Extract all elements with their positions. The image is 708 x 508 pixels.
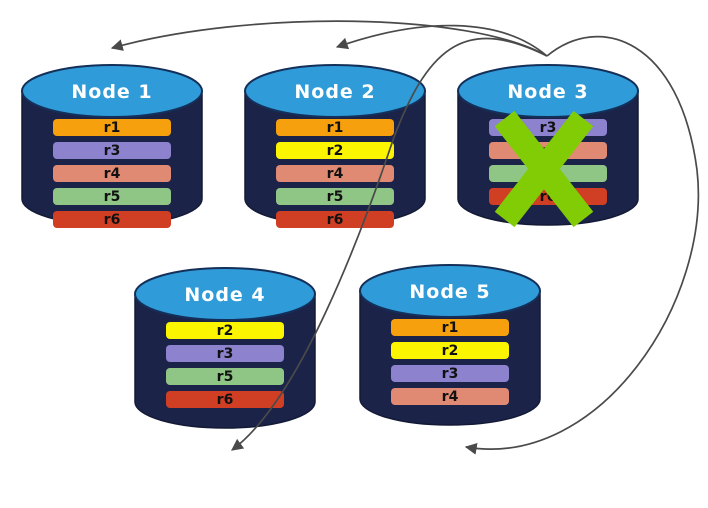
diagram-canvas: Node 1r1r3r4r5r6Node 2r1r2r4r5r6Node 3r3… xyxy=(0,0,708,508)
failure-x-icon xyxy=(495,111,594,227)
failure-overlay-layer xyxy=(0,0,708,508)
